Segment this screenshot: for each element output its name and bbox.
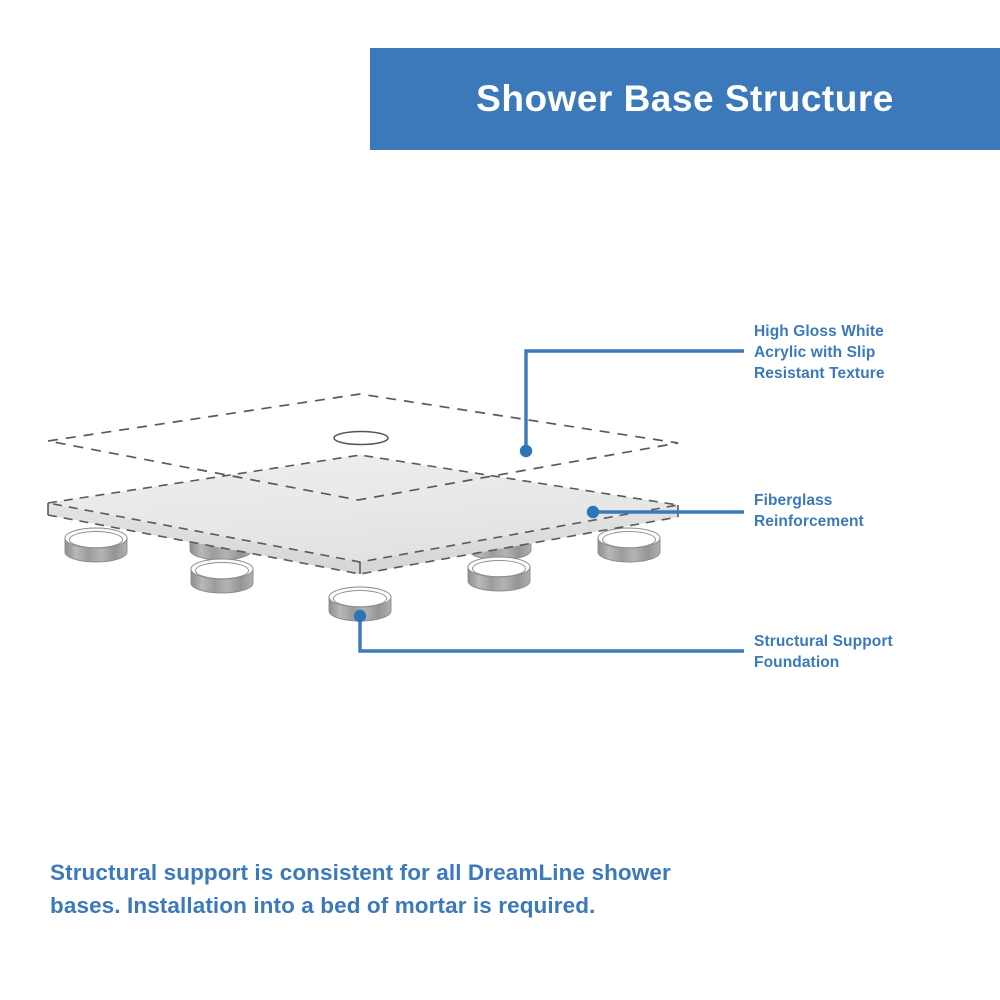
leader-dot-support xyxy=(354,610,366,622)
callout-label-acrylic: High Gloss White Acrylic with Slip Resis… xyxy=(754,321,994,385)
page-title: Shower Base Structure xyxy=(476,78,894,120)
infographic-page: Shower Base Structure High Gloss White A… xyxy=(0,0,1000,1000)
support-ring xyxy=(598,528,660,562)
leader-line-support xyxy=(360,616,744,651)
callout-label-structural-support: Structural Support Foundation xyxy=(754,631,994,673)
fiberglass-slab xyxy=(48,455,678,574)
leader-dot-fiberglass xyxy=(587,506,599,518)
leader-line-acrylic xyxy=(526,351,744,451)
support-ring xyxy=(65,528,127,562)
support-ring xyxy=(468,557,530,591)
leader-dot-acrylic xyxy=(520,445,532,457)
drain-opening xyxy=(334,432,388,445)
bottom-caption: Structural support is consistent for all… xyxy=(50,856,690,923)
support-ring xyxy=(191,559,253,593)
callout-label-fiberglass: Fiberglass Reinforcement xyxy=(754,490,994,532)
title-banner: Shower Base Structure xyxy=(370,48,1000,150)
